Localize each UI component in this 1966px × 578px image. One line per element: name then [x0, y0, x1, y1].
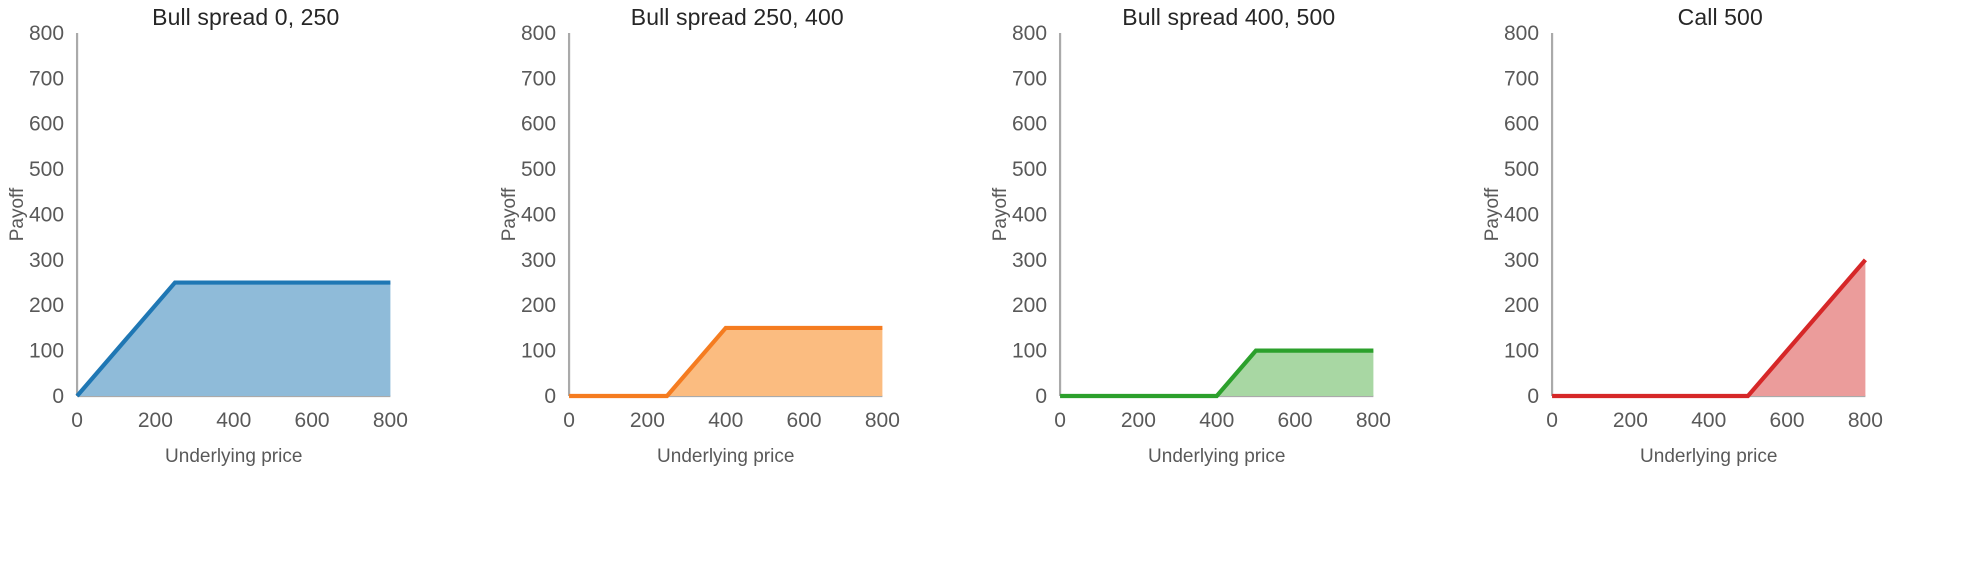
y-tick-label: 100 — [1012, 340, 1047, 363]
x-tick-label: 600 — [1769, 409, 1804, 432]
subplot-0: Bull spread 0, 250 010020030040050060070… — [0, 0, 492, 578]
y-tick-label: 0 — [52, 385, 64, 408]
y-tick-label: 500 — [521, 158, 556, 181]
y-tick-label: 200 — [1012, 294, 1047, 317]
subplot-plot-area: 01002003004005006007008000200400600800Pa… — [983, 0, 1475, 578]
y-tick-label: 300 — [1504, 249, 1539, 272]
x-tick-label: 400 — [708, 409, 743, 432]
subplot-plot-area: 01002003004005006007008000200400600800Pa… — [1475, 0, 1966, 578]
y-axis-label: Payoff — [990, 187, 1011, 241]
x-axis-label: Underlying price — [657, 446, 794, 467]
y-tick-label: 600 — [1012, 113, 1047, 136]
x-axis-label: Underlying price — [1148, 446, 1285, 467]
x-tick-label: 200 — [138, 409, 173, 432]
x-tick-label: 0 — [1054, 409, 1066, 432]
series-area — [1552, 260, 1865, 396]
y-tick-label: 700 — [521, 67, 556, 90]
x-tick-label: 600 — [1278, 409, 1313, 432]
y-tick-label: 100 — [521, 340, 556, 363]
y-tick-label: 100 — [29, 340, 64, 363]
y-tick-label: 300 — [29, 249, 64, 272]
subplot-plot-area: 01002003004005006007008000200400600800Pa… — [492, 0, 984, 578]
figure-canvas: Bull spread 0, 250 010020030040050060070… — [0, 0, 1966, 578]
x-tick-label: 200 — [629, 409, 664, 432]
y-tick-label: 600 — [29, 113, 64, 136]
subplot-1: Bull spread 250, 400 0100200300400500600… — [492, 0, 984, 578]
x-tick-label: 0 — [1546, 409, 1558, 432]
y-tick-label: 400 — [1504, 204, 1539, 227]
series-area — [1060, 351, 1373, 396]
x-tick-label: 800 — [1356, 409, 1391, 432]
y-tick-label: 800 — [1504, 22, 1539, 45]
y-tick-label: 200 — [521, 294, 556, 317]
x-tick-label: 800 — [373, 409, 408, 432]
y-tick-label: 400 — [521, 204, 556, 227]
y-tick-label: 700 — [1504, 67, 1539, 90]
y-tick-label: 700 — [1012, 67, 1047, 90]
y-tick-label: 800 — [521, 22, 556, 45]
x-tick-label: 400 — [1199, 409, 1234, 432]
subplot-2: Bull spread 400, 500 0100200300400500600… — [983, 0, 1475, 578]
y-axis-label: Payoff — [1482, 187, 1503, 241]
x-tick-label: 400 — [1691, 409, 1726, 432]
y-tick-label: 800 — [1012, 22, 1047, 45]
y-tick-label: 0 — [1527, 385, 1539, 408]
y-tick-label: 200 — [1504, 294, 1539, 317]
subplot-3: Call 500 0100200300400500600700800020040… — [1475, 0, 1966, 578]
x-tick-label: 200 — [1612, 409, 1647, 432]
y-tick-label: 300 — [521, 249, 556, 272]
x-tick-label: 400 — [216, 409, 251, 432]
x-tick-label: 0 — [71, 409, 83, 432]
y-tick-label: 0 — [1035, 385, 1047, 408]
x-tick-label: 200 — [1121, 409, 1156, 432]
y-tick-label: 400 — [29, 204, 64, 227]
y-tick-label: 600 — [1504, 113, 1539, 136]
y-tick-label: 300 — [1012, 249, 1047, 272]
y-axis-label: Payoff — [7, 187, 28, 241]
x-axis-label: Underlying price — [165, 446, 302, 467]
x-tick-label: 600 — [786, 409, 821, 432]
x-axis-label: Underlying price — [1640, 446, 1777, 467]
y-tick-label: 800 — [29, 22, 64, 45]
y-axis-label: Payoff — [499, 187, 520, 241]
y-tick-label: 0 — [544, 385, 556, 408]
y-tick-label: 100 — [1504, 340, 1539, 363]
subplot-plot-area: 01002003004005006007008000200400600800Pa… — [0, 0, 492, 578]
y-tick-label: 200 — [29, 294, 64, 317]
y-tick-label: 500 — [29, 158, 64, 181]
y-tick-label: 500 — [1504, 158, 1539, 181]
y-tick-label: 500 — [1012, 158, 1047, 181]
y-tick-label: 600 — [521, 113, 556, 136]
x-tick-label: 800 — [1847, 409, 1882, 432]
series-area — [569, 328, 882, 396]
x-tick-label: 0 — [563, 409, 575, 432]
x-tick-label: 800 — [864, 409, 899, 432]
x-tick-label: 600 — [295, 409, 330, 432]
y-tick-label: 700 — [29, 67, 64, 90]
y-tick-label: 400 — [1012, 204, 1047, 227]
